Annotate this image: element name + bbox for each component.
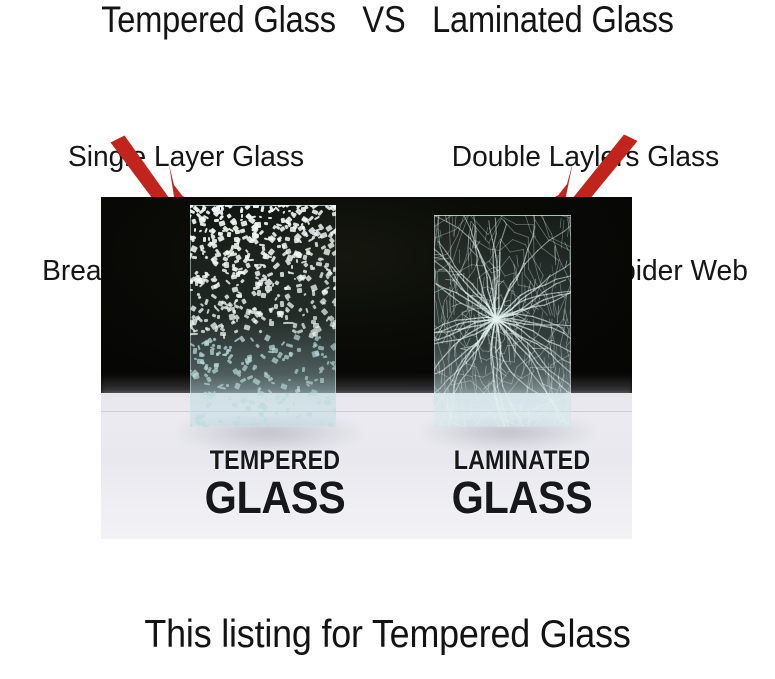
tempered-photo-label-big: GLASS: [174, 475, 376, 520]
tempered-description-line1: Single Layer Glass: [6, 138, 367, 176]
laminated-glass-sample: [434, 215, 571, 427]
laminated-web-crack-pattern: [434, 215, 571, 427]
laminated-photo-label-big: GLASS: [416, 475, 628, 520]
tempered-photo-label-small: TEMPERED: [180, 447, 369, 474]
tempered-dice-pattern: [190, 205, 336, 427]
product-infographic: Tempered Glass VS Laminated Glass Single…: [0, 0, 775, 679]
tempered-glass-sample: [190, 205, 336, 427]
comparison-photo: TEMPERED GLASS LAMINATED GLASS: [101, 197, 632, 539]
laminated-description-line1: Double Laylers Glass: [402, 138, 770, 176]
laminated-photo-label: LAMINATED GLASS: [407, 447, 632, 520]
laminated-photo-label-small: LAMINATED: [423, 447, 621, 474]
page-title: Tempered Glass VS Laminated Glass: [47, 0, 729, 40]
tempered-photo-label: TEMPERED GLASS: [165, 447, 385, 520]
listing-note: This listing for Tempered Glass: [31, 612, 744, 658]
